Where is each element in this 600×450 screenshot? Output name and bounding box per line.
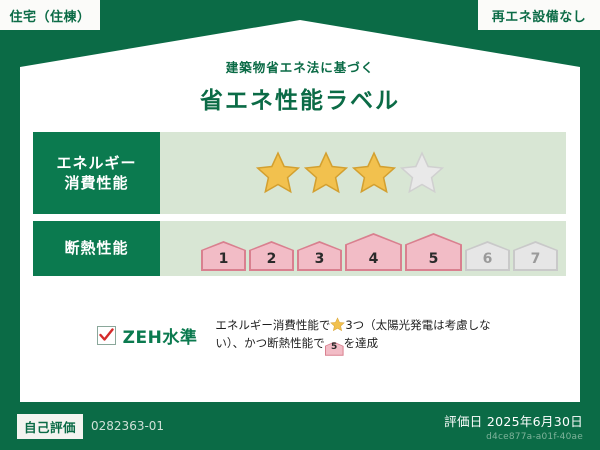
- energy-performance-value: [160, 132, 566, 214]
- insulation-grade-6: 6: [465, 241, 510, 271]
- grade-number: 4: [369, 251, 379, 267]
- page-title: 省エネ性能ラベル: [0, 81, 600, 115]
- grade-number: 5: [429, 251, 439, 267]
- insulation-grade-3: 3: [297, 241, 342, 271]
- insulation-performance-label: 断熱性能: [33, 221, 160, 276]
- insulation-grade-scale: 1234567: [201, 221, 558, 276]
- evaluation-date: 評価日 2025年6月30日: [444, 411, 583, 430]
- zeh-label: ZEH水準: [123, 323, 198, 348]
- building-type-badge: 住宅（住棟）: [0, 0, 100, 30]
- performance-rows: エネルギー 消費性能 断熱性能 1234567: [33, 132, 566, 283]
- label-footer: 自己評価 0282363-01 評価日 2025年6月30日 d4ce877a-…: [0, 402, 600, 450]
- evaluation-id: 0282363-01: [91, 419, 164, 433]
- insulation-grade-2: 2: [249, 241, 294, 271]
- insulation-grade-5: 5: [405, 233, 462, 271]
- title-block: 建築物省エネ法に基づく 省エネ性能ラベル: [0, 57, 600, 115]
- self-evaluation-badge: 自己評価: [17, 414, 83, 439]
- zeh-standard-row: ZEH水準 エネルギー消費性能で3つ（太陽光発電は考慮しない）、かつ断熱性能で5…: [0, 316, 600, 356]
- insulation-grade-4: 4: [345, 233, 402, 271]
- star-filled-icon: [303, 150, 349, 196]
- zeh-desc-part3: を達成: [344, 336, 379, 350]
- zeh-desc-grade-badge: 5: [325, 342, 344, 356]
- zeh-tag: ZEH水準: [97, 323, 198, 348]
- insulation-grade-1: 1: [201, 241, 246, 271]
- energy-performance-label: エネルギー 消費性能: [33, 132, 160, 214]
- label-subtitle: 建築物省エネ法に基づく: [0, 57, 600, 76]
- star-icon: [330, 317, 345, 332]
- zeh-desc-part1: エネルギー消費性能で: [215, 318, 330, 332]
- zeh-checkbox[interactable]: [97, 326, 116, 345]
- grade-number: 2: [267, 251, 277, 267]
- energy-performance-row: エネルギー 消費性能: [33, 132, 566, 214]
- star-filled-icon: [351, 150, 397, 196]
- footer-left: 自己評価 0282363-01: [17, 414, 164, 439]
- evaluation-hash: d4ce877a-a01f-40ae: [444, 432, 583, 442]
- energy-performance-label: 住宅（住棟） 再エネ設備なし 建築物省エネ法に基づく 省エネ性能ラベル エネルギ…: [0, 0, 600, 450]
- check-icon: [99, 328, 114, 343]
- insulation-performance-row: 断熱性能 1234567: [33, 221, 566, 276]
- insulation-performance-value: 1234567: [160, 221, 566, 276]
- renewable-energy-badge: 再エネ設備なし: [478, 0, 600, 30]
- star-rating: [255, 150, 445, 196]
- insulation-grade-7: 7: [513, 241, 558, 271]
- grade-number: 6: [483, 251, 493, 267]
- grade-number: 1: [219, 251, 229, 267]
- energy-label-line1: エネルギー: [56, 153, 136, 173]
- star-empty-icon: [399, 150, 445, 196]
- zeh-description: エネルギー消費性能で3つ（太陽光発電は考慮しない）、かつ断熱性能で5を達成: [215, 316, 503, 356]
- grade-number: 7: [531, 251, 541, 267]
- energy-label-line2: 消費性能: [64, 173, 128, 193]
- grade-number: 3: [315, 251, 325, 267]
- star-filled-icon: [255, 150, 301, 196]
- footer-right: 評価日 2025年6月30日 d4ce877a-a01f-40ae: [444, 411, 583, 442]
- grade-number: 5: [331, 340, 337, 355]
